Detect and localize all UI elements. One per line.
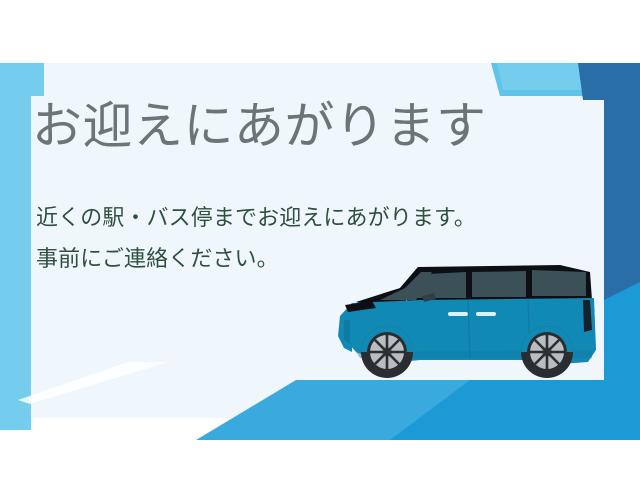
vehicle-window-mid — [472, 271, 526, 297]
wheel-spokes-front — [370, 335, 404, 369]
vehicle-window-rear — [532, 270, 586, 296]
pickup-service-banner: お迎えにあがります 近くの駅・バス停までお迎えにあがります。 事前にご連絡くださ… — [0, 0, 640, 480]
vehicle-door-handle-rear — [476, 312, 496, 316]
banner-artwork — [0, 0, 640, 480]
vehicle-front-vent — [344, 320, 350, 344]
vehicle-door-handle-front — [448, 312, 468, 316]
wheel-spokes-rear — [530, 335, 564, 369]
